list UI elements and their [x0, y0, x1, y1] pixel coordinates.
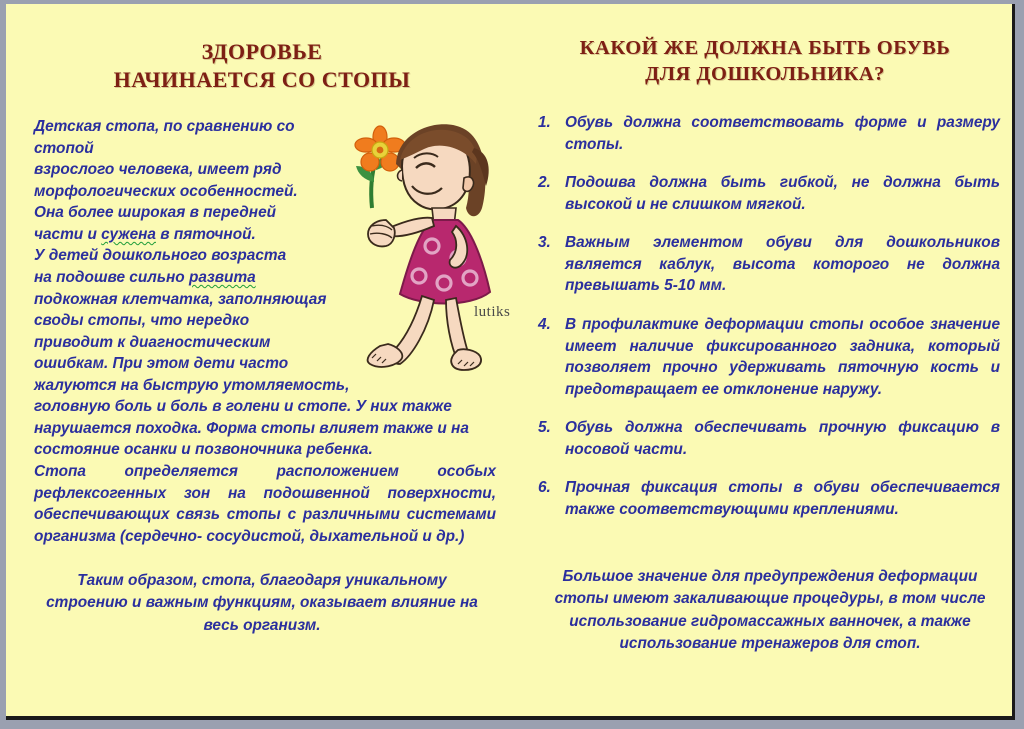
left-line-4: Она более широкая в передней [34, 202, 352, 224]
left-line-10: приводит к диагностическим [34, 332, 352, 354]
list-item: 4. В профилактике деформации стопы особо… [538, 314, 1000, 400]
list-item: 5. Обувь должна обеспечивать прочную фик… [538, 417, 1000, 460]
list-item-number: 4. [538, 314, 560, 336]
left-title-line-2: НАЧИНАЕТСЯ СО СТОПЫ [30, 66, 494, 94]
left-column: ЗДОРОВЬЕ НАЧИНАЕТСЯ СО СТОПЫ Детская сто… [6, 4, 518, 720]
list-item-text: В профилактике деформации стопы особое з… [565, 316, 1000, 398]
left-line-11: ошибкам. При этом дети часто [34, 353, 352, 375]
list-item-text: Подошва должна быть гибкой, не должна бы… [565, 174, 1000, 213]
left-conclusion: Таким образом, стопа, благодаря уникальн… [36, 570, 488, 637]
left-line-8: подкожная клетчатка, заполняющая [34, 289, 352, 311]
left-line-6: У детей дошкольного возраста [34, 245, 352, 267]
right-title-line-2: ДЛЯ ДОШКОЛЬНИКА? [538, 62, 992, 88]
left-line-5: части и сужена в пяточной. [34, 224, 352, 246]
left-line-3: морфологических особенностей. [34, 181, 352, 203]
spellcheck-word-suzhena: сужена [101, 226, 156, 243]
list-item: 6. Прочная фиксация стопы в обуви обеспе… [538, 477, 1000, 520]
right-closing-note: Большое значение для предупреждения дефо… [542, 566, 998, 655]
spellcheck-word-razvita: развита [189, 269, 256, 286]
left-line-5-pre: части и [34, 226, 101, 243]
left-line-9: своды стопы, что нередко [34, 310, 352, 332]
poster-sheet: ЗДОРОВЬЕ НАЧИНАЕТСЯ СО СТОПЫ Детская сто… [6, 4, 1012, 716]
list-item-text: Важным элементом обуви для дошкольников … [565, 234, 1000, 294]
left-body-text: Детская стопа, по сравнению со стопой вз… [34, 116, 496, 547]
footwear-requirements-list: 1. Обувь должна соответствовать форме и … [538, 112, 1000, 537]
left-paragraph-2: головную боль и боль в голени и стопе. У… [34, 396, 496, 461]
left-line-7-pre: на подошве сильно [34, 269, 189, 286]
list-item-text: Прочная фиксация стопы в обуви обеспечив… [565, 479, 1000, 518]
poster: ЗДОРОВЬЕ НАЧИНАЕТСЯ СО СТОПЫ Детская сто… [6, 4, 1015, 720]
left-line-5-post: в пяточной. [156, 226, 256, 243]
list-item-number: 1. [538, 112, 560, 134]
list-item-number: 5. [538, 417, 560, 439]
right-title-line-1: КАКОЙ ЖЕ ДОЛЖНА БЫТЬ ОБУВЬ [538, 36, 992, 62]
list-item-number: 6. [538, 477, 560, 499]
left-line-12: жалуются на быструю утомляемость, [34, 375, 352, 397]
right-column: КАКОЙ ЖЕ ДОЛЖНА БЫТЬ ОБУВЬ ДЛЯ ДОШКОЛЬНИ… [518, 4, 1012, 720]
left-line-7: на подошве сильно развита [34, 267, 352, 289]
left-paragraph-1: Детская стопа, по сравнению со стопой вз… [34, 116, 352, 396]
list-item: 2. Подошва должна быть гибкой, не должна… [538, 172, 1000, 215]
left-line-1: Детская стопа, по сравнению со стопой [34, 116, 352, 159]
artist-watermark: lutiks [474, 304, 510, 321]
left-column-title: ЗДОРОВЬЕ НАЧИНАЕТСЯ СО СТОПЫ [6, 38, 518, 93]
list-item-text: Обувь должна соответствовать форме и раз… [565, 114, 1000, 153]
list-item: 1. Обувь должна соответствовать форме и … [538, 112, 1000, 155]
left-line-2: взрослого человека, имеет ряд [34, 159, 352, 181]
list-item-number: 2. [538, 172, 560, 194]
left-paragraph-3: Стопа определяется расположением особых … [34, 461, 496, 547]
list-item-number: 3. [538, 232, 560, 254]
left-title-line-1: ЗДОРОВЬЕ [30, 38, 494, 66]
right-column-title: КАКОЙ ЖЕ ДОЛЖНА БЫТЬ ОБУВЬ ДЛЯ ДОШКОЛЬНИ… [518, 36, 1012, 87]
list-item-text: Обувь должна обеспечивать прочную фиксац… [565, 419, 1000, 458]
list-item: 3. Важным элементом обуви для дошкольник… [538, 232, 1000, 297]
